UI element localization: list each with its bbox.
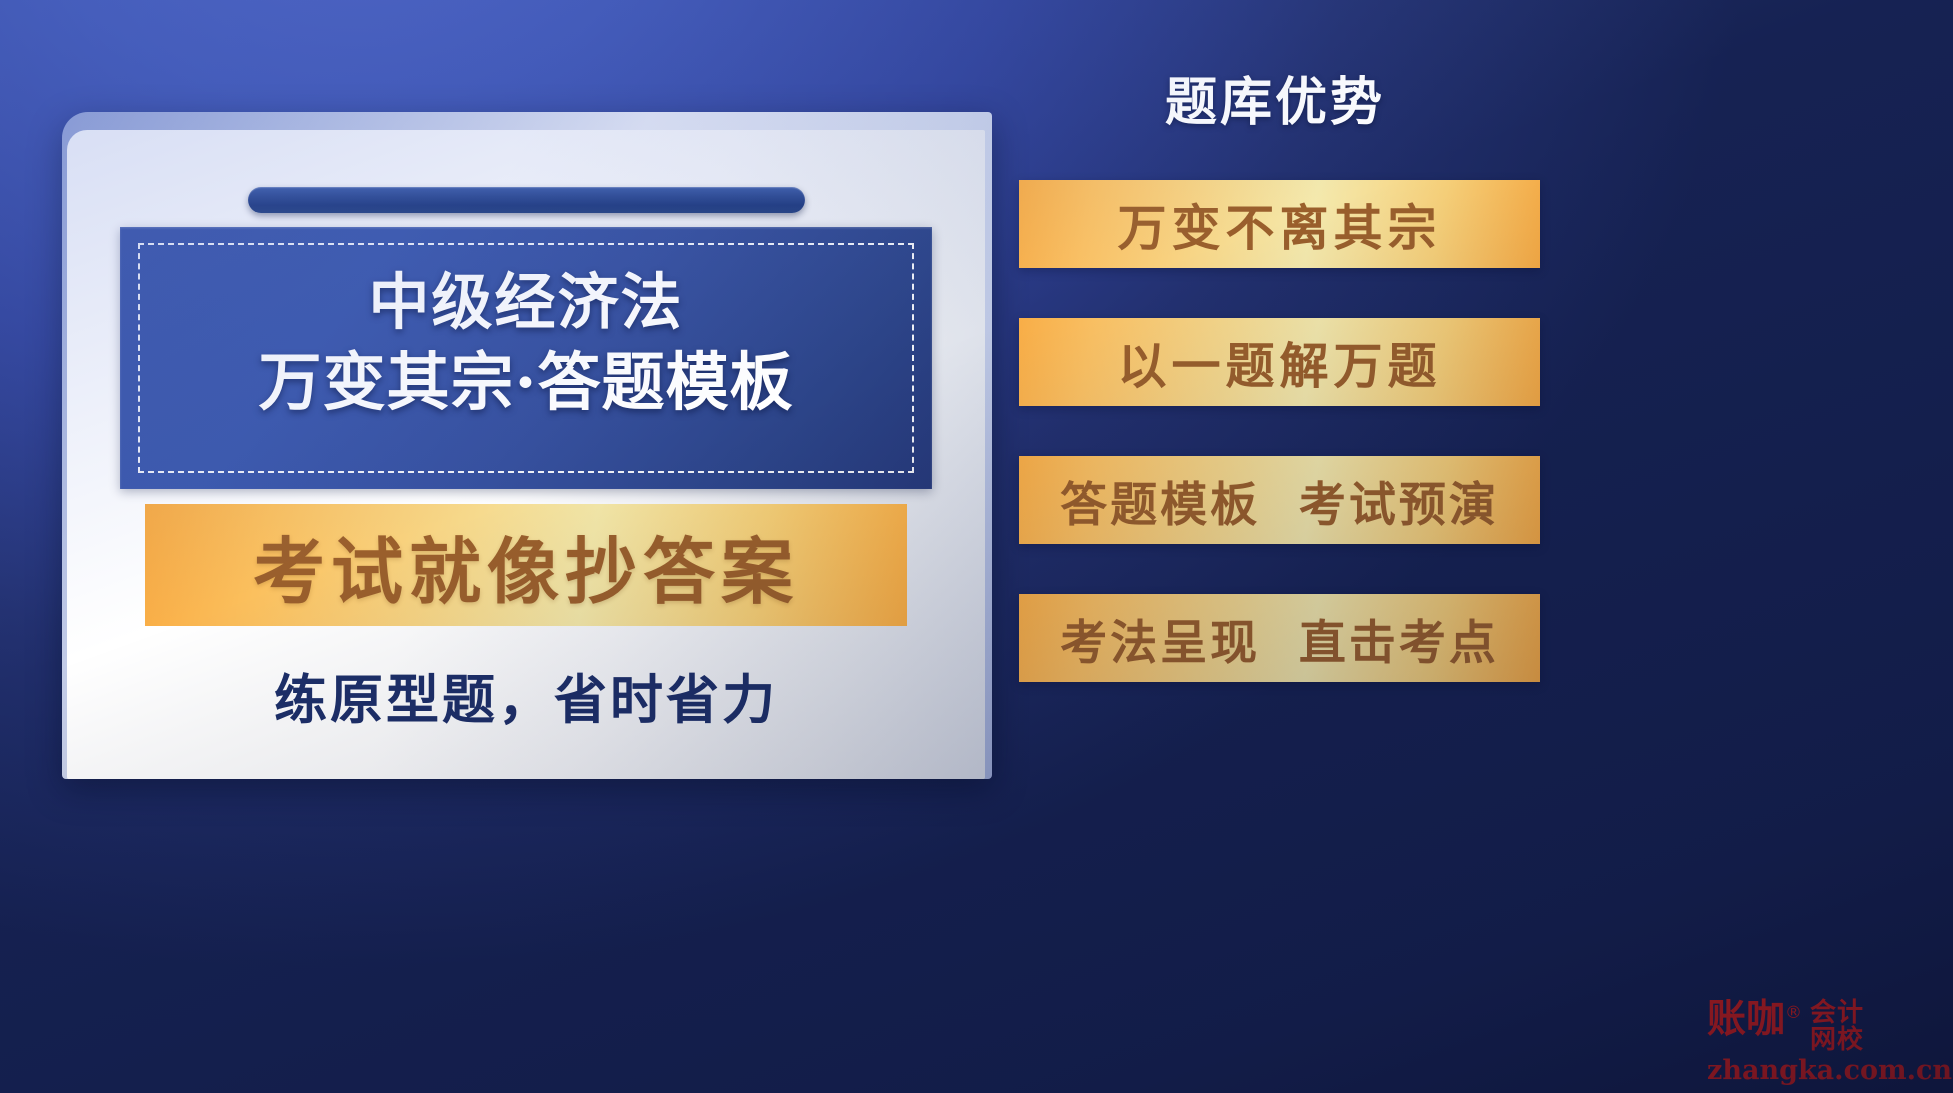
course-card: 中级经济法 万变其宗·答题模板 考试就像抄答案 练原型题，省时省力 xyxy=(62,112,992,779)
brand-name: 账咖® xyxy=(1707,1000,1802,1039)
feature-box-1: 万变不离其宗 xyxy=(1019,180,1540,268)
feature-box-2: 以一题解万题 xyxy=(1019,318,1540,406)
card-title: 中级经济法 万变其宗·答题模板 xyxy=(120,263,932,424)
brand-name-text: 账咖 xyxy=(1707,997,1785,1042)
feature-box-3: 答题模板 考试预演 xyxy=(1019,456,1540,544)
feature-label-1: 万变不离其宗 xyxy=(1117,189,1441,260)
feature-label-2: 以一题解万题 xyxy=(1117,327,1441,398)
card-title-line-1: 中级经济法 xyxy=(120,263,932,342)
card-gold-banner: 考试就像抄答案 xyxy=(145,504,907,626)
brand-suffix-line-2: 网校 xyxy=(1810,1027,1864,1054)
card-title-line-2: 万变其宗·答题模板 xyxy=(120,342,932,424)
features-panel: 题库优势 万变不离其宗 以一题解万题 答题模板 考试预演 考法呈现 直击考点 xyxy=(1019,50,1915,1050)
brand-url: zhangka.com.cn xyxy=(1707,1055,1943,1086)
poster-canvas: 中级经济法 万变其宗·答题模板 考试就像抄答案 练原型题，省时省力 题库优势 万… xyxy=(0,0,1953,1093)
feature-list: 万变不离其宗 以一题解万题 答题模板 考试预演 考法呈现 直击考点 xyxy=(1019,180,1540,732)
card-title-panel: 中级经济法 万变其宗·答题模板 xyxy=(120,227,932,489)
registered-mark-icon: ® xyxy=(1785,1003,1802,1023)
feature-label-4: 考法呈现 直击考点 xyxy=(1060,604,1499,673)
brand-suffix: 会计 网校 xyxy=(1810,1000,1864,1053)
card-body: 中级经济法 万变其宗·答题模板 考试就像抄答案 练原型题，省时省力 xyxy=(67,130,985,779)
feature-box-4: 考法呈现 直击考点 xyxy=(1019,594,1540,682)
features-panel-title: 题库优势 xyxy=(1165,60,1385,135)
card-gold-banner-text: 考试就像抄答案 xyxy=(253,513,799,618)
brand-logo: 账咖® 会计 网校 zhangka.com.cn xyxy=(1707,1000,1943,1086)
feature-label-3: 答题模板 考试预演 xyxy=(1060,466,1499,535)
card-subtitle: 练原型题，省时省力 xyxy=(67,658,985,734)
brand-suffix-line-1: 会计 xyxy=(1810,1000,1864,1027)
card-top-bar xyxy=(248,187,805,213)
brand-logo-row: 账咖® 会计 网校 xyxy=(1707,1000,1943,1053)
